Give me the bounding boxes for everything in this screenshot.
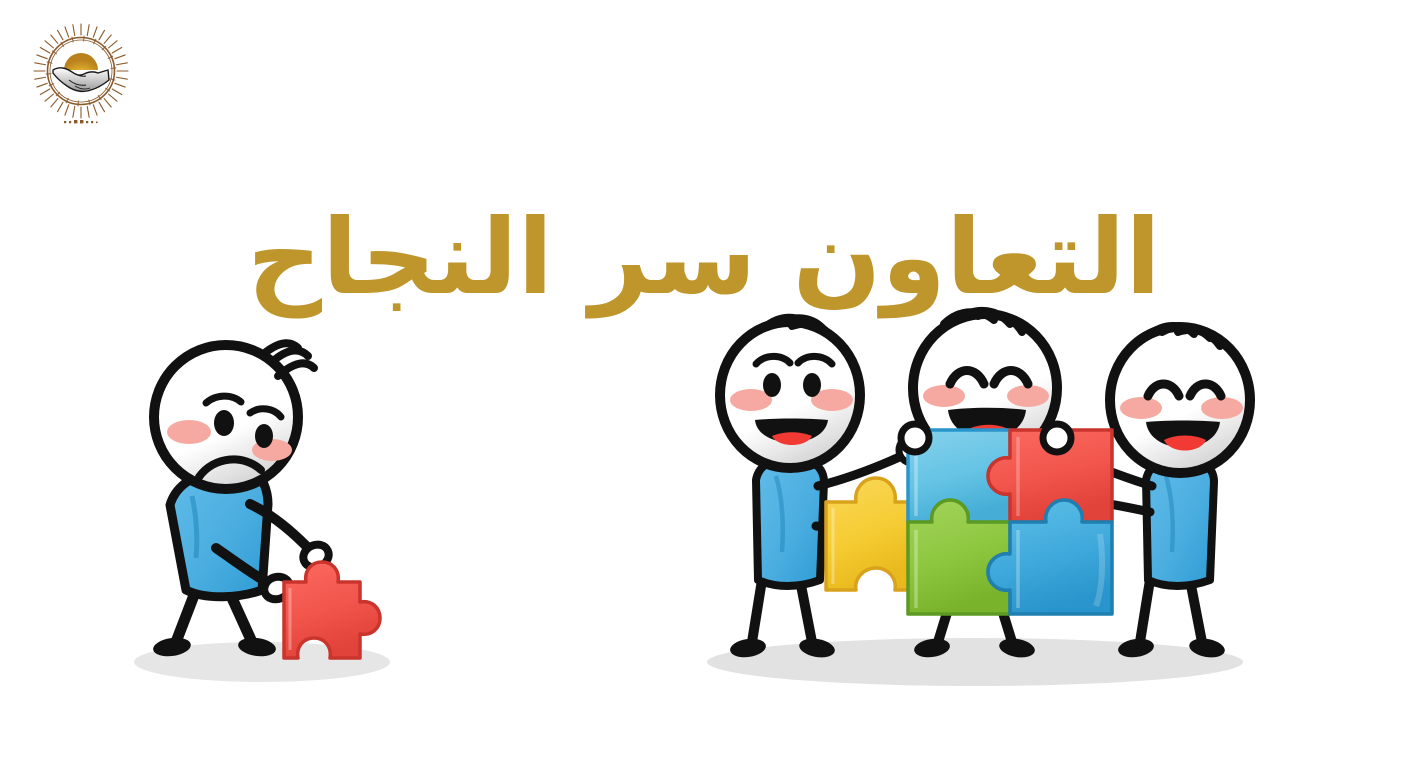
cheek-left — [167, 420, 211, 444]
puzzle-piece-yellow — [826, 478, 908, 590]
happy-figure-left-head — [720, 318, 860, 468]
shirt-figure-right — [1146, 459, 1214, 586]
scene-lone-sad-figure — [152, 343, 380, 658]
eye-left — [214, 410, 234, 436]
eye-right — [255, 424, 273, 448]
happy-figure-right-head — [1110, 326, 1250, 473]
eye-right — [803, 373, 821, 397]
scene-three-happy-figures — [720, 311, 1250, 660]
ground-shadow-right — [707, 638, 1243, 686]
logo-caption-microtext — [64, 120, 98, 123]
cheek-left — [1120, 397, 1162, 419]
illustration-area — [0, 290, 1408, 710]
sad-figure-head — [154, 343, 314, 489]
assembled-puzzle — [826, 430, 1112, 614]
cheek-left — [923, 385, 965, 407]
slide-canvas: التعاون سر النجاح — [0, 0, 1408, 768]
puzzle-piece-red-single — [284, 562, 380, 658]
sunrise-handshake-logo-icon[interactable] — [28, 18, 134, 136]
eye-left — [763, 373, 781, 397]
